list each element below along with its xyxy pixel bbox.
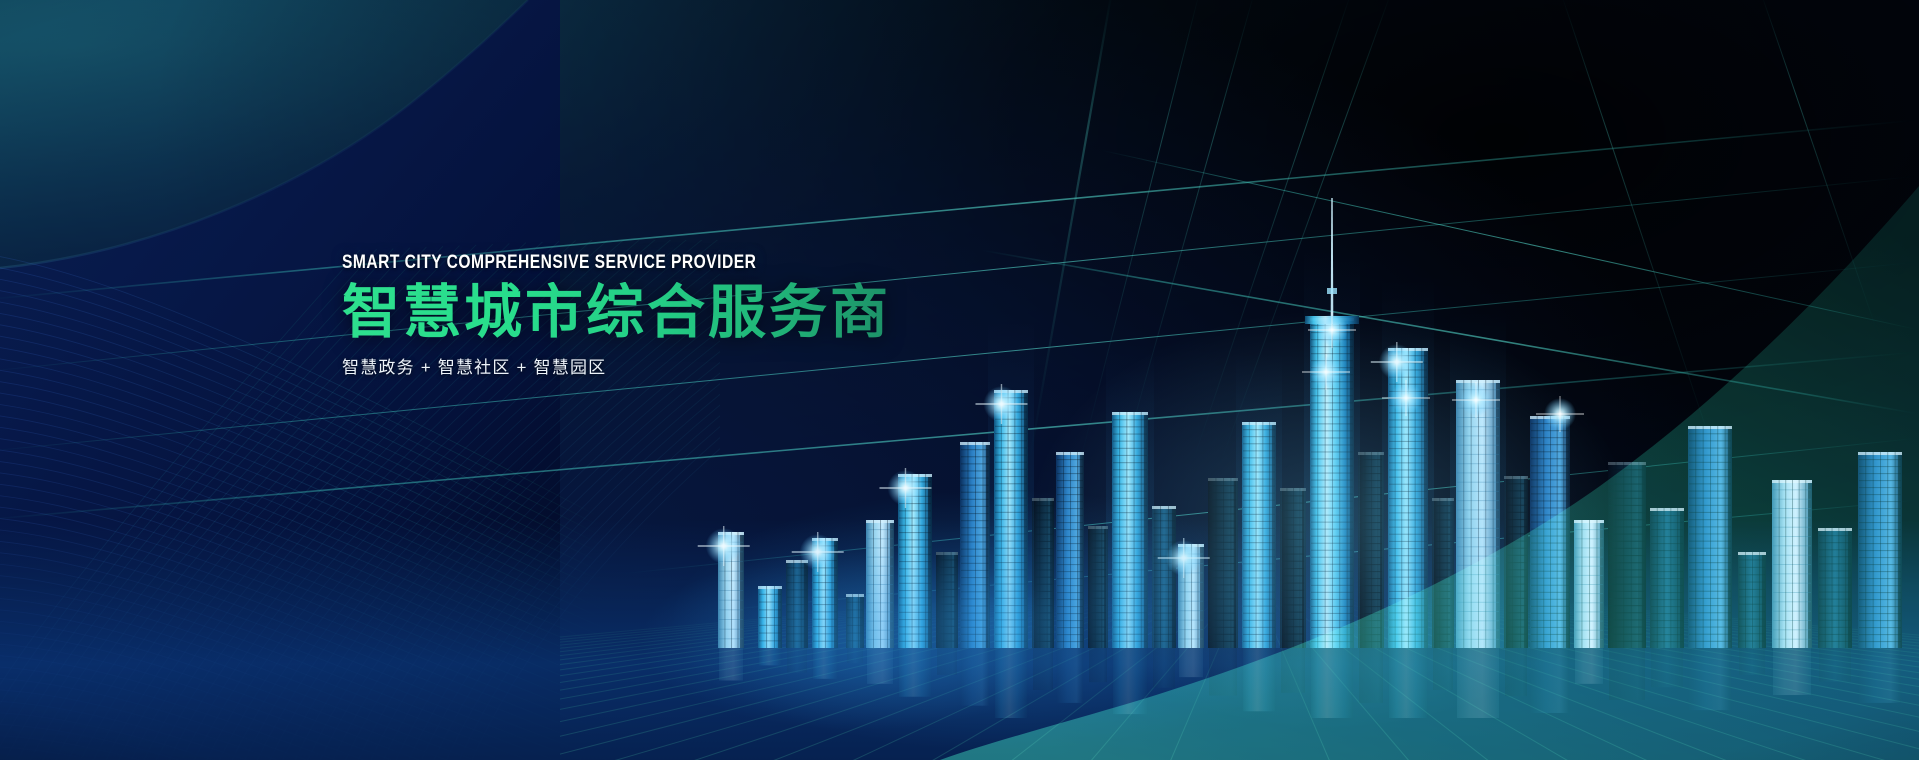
- eyebrow-tagline: SMART CITY COMPREHENSIVE SERVICE PROVIDE…: [342, 252, 902, 273]
- page-title: 智慧城市综合服务商: [342, 282, 1042, 345]
- hero-copy-block: SMART CITY COMPREHENSIVE SERVICE PROVIDE…: [342, 252, 1042, 378]
- ground-plane: [0, 520, 1919, 760]
- subtitle-services: 智慧政务 + 智慧社区 + 智慧园区: [342, 353, 1042, 378]
- smart-city-hero-banner: SMART CITY COMPREHENSIVE SERVICE PROVIDE…: [0, 0, 1919, 760]
